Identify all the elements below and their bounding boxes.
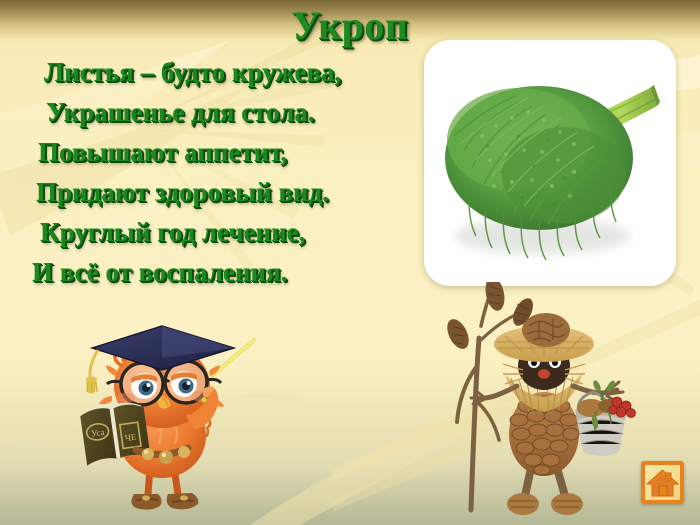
slide-canvas: Укроп Листья – будто кружева, Украшенье … bbox=[0, 0, 700, 525]
home-button[interactable] bbox=[641, 461, 684, 504]
poem-block: Листья – будто кружева, Украшенье для ст… bbox=[32, 52, 402, 292]
svg-text:Уса: Уса bbox=[90, 427, 105, 439]
poem-line: Придают здоровый вид. bbox=[32, 172, 402, 212]
cone-man-illustration bbox=[445, 282, 660, 522]
owl-professor-illustration: Уса ЧЕ bbox=[62, 318, 277, 525]
poem-line: И всё от воспаления. bbox=[32, 252, 402, 292]
svg-text:ЧЕ: ЧЕ bbox=[124, 431, 137, 443]
poem-line: Листья – будто кружева, bbox=[32, 52, 402, 92]
dill-photo-card bbox=[424, 40, 676, 286]
poem-line: Повышают аппетит, bbox=[32, 132, 402, 172]
poem-line: Украшенье для стола. bbox=[32, 92, 402, 132]
poem-line: Круглый год лечение, bbox=[32, 212, 402, 252]
dill-bunch-image bbox=[424, 40, 676, 286]
home-icon bbox=[645, 465, 680, 500]
